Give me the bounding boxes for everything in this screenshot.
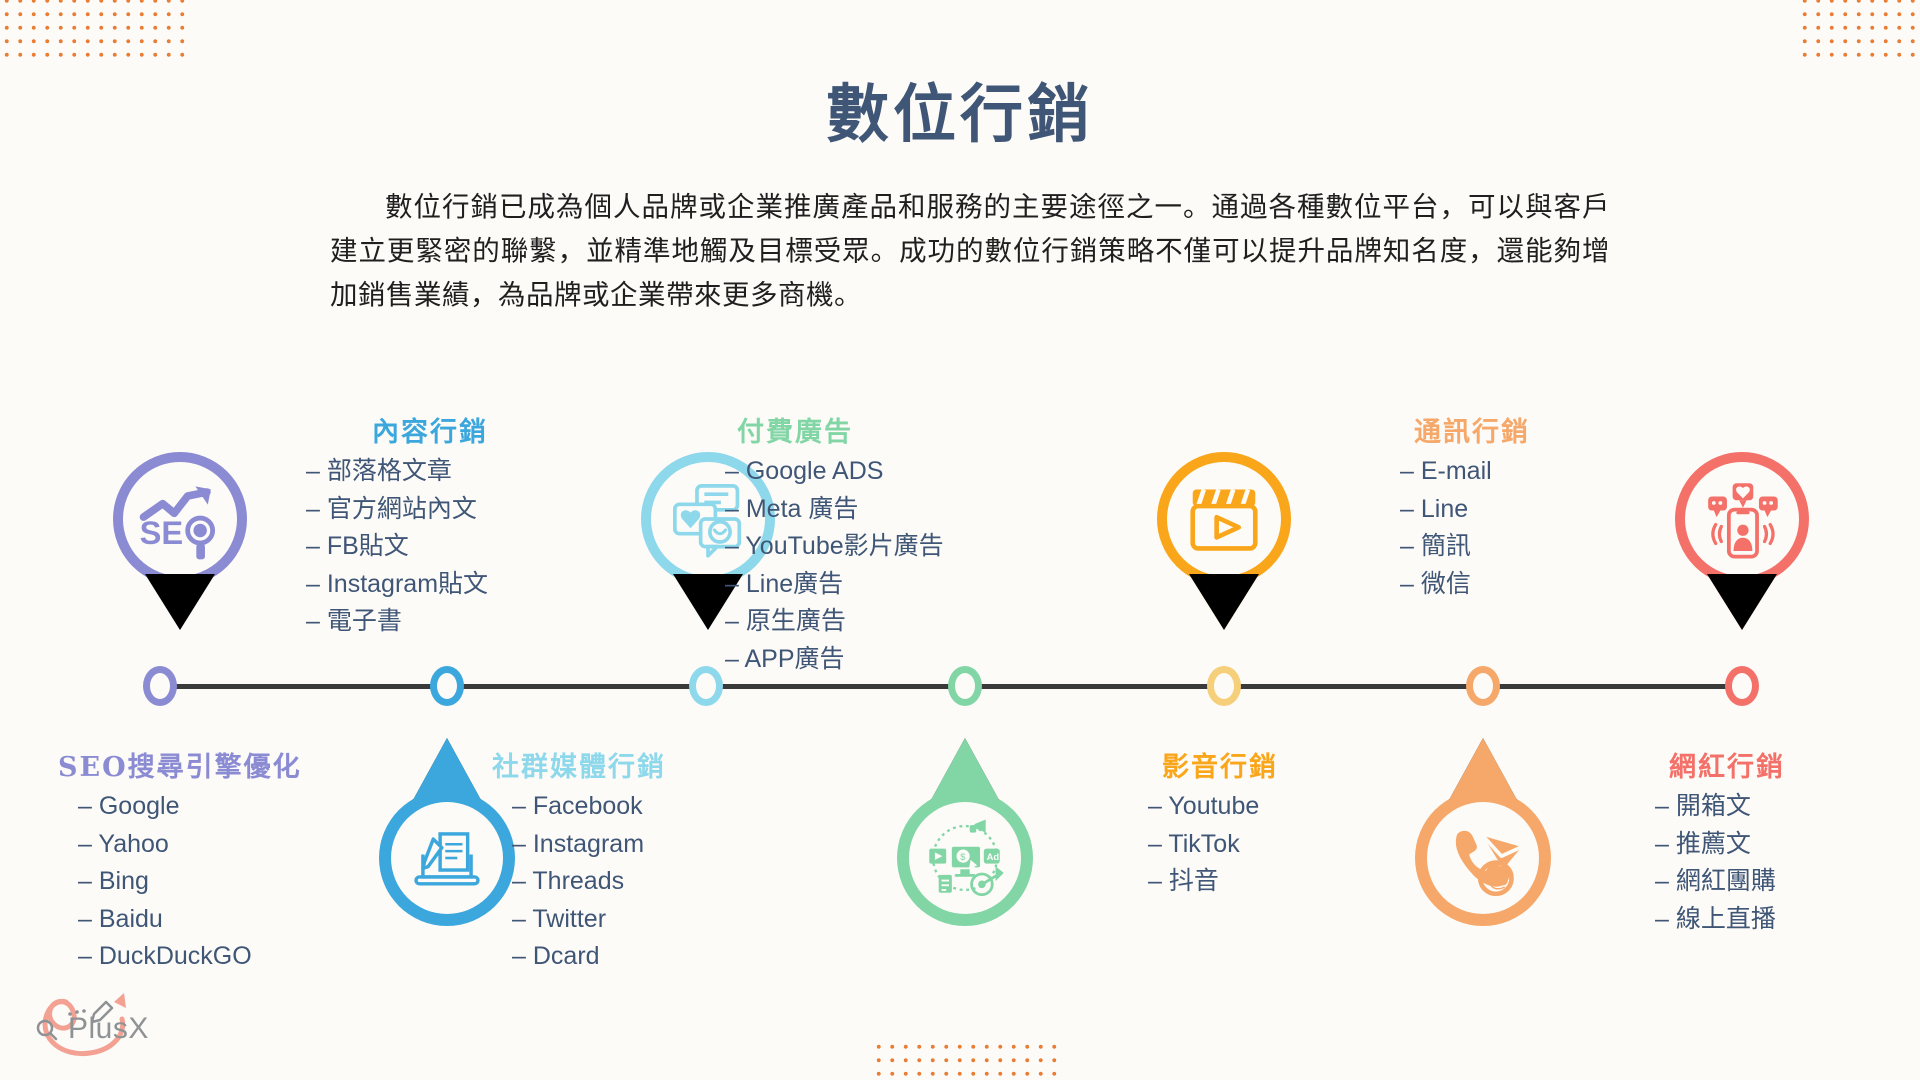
station-paid-ads-text: 付費廣告 Google ADS Meta 廣告 YouTube影片廣告 Line… (725, 410, 944, 678)
station-seo-list: Google Yahoo Bing Baidu DuckDuckGO (58, 788, 302, 976)
station-video-text: 影音行銷 Youtube TikTok 抖音 (1148, 745, 1278, 901)
decor-dots-top-left (0, 0, 190, 60)
station-social-list: Facebook Instagram Threads Twitter Dcard (492, 788, 666, 976)
page-title: 數位行銷 (0, 64, 1920, 155)
list-item: Youtube (1148, 788, 1278, 826)
clapperboard-play-icon (1167, 462, 1281, 576)
plusx-logo: PlusX (22, 984, 182, 1074)
station-content-list: 部落格文章 官方網站內文 FB貼文 Instagram貼文 電子書 (306, 453, 488, 641)
station-influencer[interactable] (1675, 452, 1809, 586)
svg-text:Ad: Ad (987, 851, 1000, 862)
list-item: Bing (78, 863, 302, 901)
list-item: Google (78, 788, 302, 826)
list-item: Twitter (512, 901, 666, 939)
list-item: Yahoo (78, 826, 302, 864)
list-item: YouTube影片廣告 (725, 528, 944, 566)
list-item: APP廣告 (725, 641, 944, 679)
list-item: 推薦文 (1655, 826, 1785, 864)
node-social (689, 666, 723, 706)
seo-trend-magnifier-icon: SE (123, 462, 237, 576)
list-item: 開箱文 (1655, 788, 1785, 826)
svg-text:$: $ (960, 851, 966, 862)
station-video-title: 影音行銷 (1148, 745, 1278, 784)
list-item: Instagram貼文 (306, 566, 488, 604)
list-item: 簡訊 (1400, 528, 1530, 566)
station-seo-title: SEO搜尋引擎優化 (58, 745, 302, 784)
list-item: Facebook (512, 788, 666, 826)
station-video-list: Youtube TikTok 抖音 (1148, 788, 1278, 901)
list-item: 網紅團購 (1655, 863, 1785, 901)
list-item: Instagram (512, 826, 666, 864)
list-item: 線上直播 (1655, 901, 1785, 939)
station-social-text: 社群媒體行銷 Facebook Instagram Threads Twitte… (492, 745, 666, 976)
station-seo-text: SEO搜尋引擎優化 Google Yahoo Bing Baidu DuckDu… (58, 745, 302, 976)
station-video[interactable] (1157, 452, 1291, 586)
video-pin (1157, 452, 1291, 586)
list-item: Meta 廣告 (725, 491, 944, 529)
station-messaging-text: 通訊行銷 E-mail Line 簡訊 微信 (1400, 410, 1530, 603)
phone-envelope-at-icon: @ (1427, 802, 1539, 914)
station-influencer-text: 網紅行銷 開箱文 推薦文 網紅團購 線上直播 (1655, 745, 1785, 938)
document-pencil-laptop-icon (391, 802, 503, 914)
messaging-drop: @ (1415, 790, 1551, 926)
list-item: 抖音 (1148, 863, 1278, 901)
decor-dots-top-right (1798, 0, 1920, 60)
station-messaging[interactable]: @ (1415, 790, 1551, 926)
list-item: Line廣告 (725, 566, 944, 604)
node-influencer (1725, 666, 1759, 706)
decor-dots-bottom (872, 1040, 1062, 1080)
list-item: E-mail (1400, 453, 1530, 491)
station-paid-ads-title: 付費廣告 (725, 410, 944, 449)
station-influencer-title: 網紅行銷 (1655, 745, 1785, 784)
influencer-pin (1675, 452, 1809, 586)
node-content (430, 666, 464, 706)
list-item: DuckDuckGO (78, 938, 302, 976)
list-item: Google ADS (725, 453, 944, 491)
svg-text:SE: SE (140, 514, 184, 551)
list-item: FB貼文 (306, 528, 488, 566)
phone-social-reactions-icon (1685, 462, 1799, 576)
node-video (1207, 666, 1241, 706)
node-messaging (1466, 666, 1500, 706)
station-content-text: 內容行銷 部落格文章 官方網站內文 FB貼文 Instagram貼文 電子書 (306, 410, 488, 641)
intro-paragraph: 數位行銷已成為個人品牌或企業推廣產品和服務的主要途徑之一。通過各種數位平台，可以… (330, 185, 1610, 317)
svg-text:@: @ (1488, 867, 1510, 892)
list-item: Dcard (512, 938, 666, 976)
node-paid-ads (948, 666, 982, 706)
station-influencer-list: 開箱文 推薦文 網紅團購 線上直播 (1655, 788, 1785, 938)
list-item: 官方網站內文 (306, 491, 488, 529)
list-item: 部落格文章 (306, 453, 488, 491)
paid-ads-drop: $ Ad (897, 790, 1033, 926)
seo-pin: SE (113, 452, 247, 586)
plusx-wordmark: PlusX (68, 1012, 149, 1046)
ad-campaign-cycle-icon: $ Ad (909, 802, 1021, 914)
list-item: Baidu (78, 901, 302, 939)
station-social-title: 社群媒體行銷 (492, 745, 666, 784)
station-messaging-list: E-mail Line 簡訊 微信 (1400, 453, 1530, 603)
infographic-canvas: 數位行銷 數位行銷已成為個人品牌或企業推廣產品和服務的主要途徑之一。通過各種數位… (0, 0, 1920, 1080)
list-item: 微信 (1400, 566, 1530, 604)
list-item: 原生廣告 (725, 603, 944, 641)
station-seo[interactable]: SE (113, 452, 247, 586)
node-seo (143, 666, 177, 706)
list-item: Line (1400, 491, 1530, 529)
station-paid-ads-list: Google ADS Meta 廣告 YouTube影片廣告 Line廣告 原生… (725, 453, 944, 678)
list-item: 電子書 (306, 603, 488, 641)
station-content-title: 內容行銷 (306, 410, 488, 449)
station-messaging-title: 通訊行銷 (1400, 410, 1530, 449)
list-item: Threads (512, 863, 666, 901)
list-item: TikTok (1148, 826, 1278, 864)
station-paid-ads[interactable]: $ Ad (897, 790, 1033, 926)
